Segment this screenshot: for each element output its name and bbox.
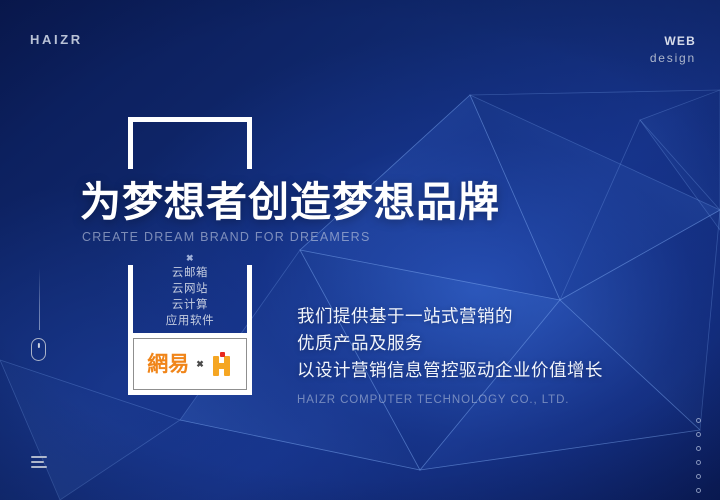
hero-copy: 我们提供基于一站式营销的 优质产品及服务 以设计营销信息管控驱动企业价值增长 H… xyxy=(297,303,603,414)
copy-line-2: 优质产品及服务 xyxy=(297,330,603,357)
page-subtitle: CREATE DREAM BRAND FOR DREAMERS xyxy=(82,230,371,244)
netease-logo: 網易 xyxy=(147,354,189,375)
partner-card[interactable]: 網易 ✖ xyxy=(128,333,252,395)
pagination-dot[interactable] xyxy=(696,418,701,423)
page-title: 为梦想者创造梦想品牌 xyxy=(80,181,500,224)
service-item-cloud-mail[interactable]: 云邮箱 xyxy=(128,265,252,281)
polygon-background xyxy=(0,0,720,500)
hamburger-line-1 xyxy=(31,456,47,458)
service-item-applications[interactable]: 应用软件 xyxy=(128,313,252,329)
h-right-stem xyxy=(224,356,230,376)
corner-label: WEB design xyxy=(650,33,696,68)
copy-line-1: 我们提供基于一站式营销的 xyxy=(297,303,603,330)
polygon-background-svg xyxy=(0,0,720,500)
pagination-dot[interactable] xyxy=(696,460,701,465)
hamburger-menu-icon[interactable] xyxy=(31,456,47,468)
pagination-dot[interactable] xyxy=(696,432,701,437)
corner-label-design: design xyxy=(650,50,696,67)
pagination-dot[interactable] xyxy=(696,446,701,451)
scroll-mouse-icon[interactable] xyxy=(31,338,46,361)
pagination-dot[interactable] xyxy=(696,474,701,479)
bracket-frame-top xyxy=(128,117,252,169)
mouse-wheel-dot xyxy=(37,343,39,348)
company-name: HAIZR COMPUTER TECHNOLOGY CO., LTD. xyxy=(297,387,603,414)
pagination-dot[interactable] xyxy=(696,488,701,493)
cross-separator-icon: ✖ xyxy=(196,359,204,370)
site-logo[interactable]: HAIZR xyxy=(30,32,83,47)
service-item-cloud-site[interactable]: 云网站 xyxy=(128,281,252,297)
partner-card-inner: 網易 ✖ xyxy=(133,338,247,390)
pagination-dots[interactable] xyxy=(696,418,701,493)
scroll-rail-line xyxy=(39,268,40,330)
sparkle-icon: ✖ xyxy=(186,253,194,264)
service-item-cloud-computing[interactable]: 云计算 xyxy=(128,297,252,313)
hero-stage: HAIZR WEB design 为梦想者创造梦想品牌 CREATE DREAM… xyxy=(0,0,720,500)
h-red-dot xyxy=(220,352,225,357)
corner-label-web: WEB xyxy=(650,33,696,50)
copy-line-3: 以设计营销信息管控驱动企业价值增长 xyxy=(297,357,603,384)
service-list: 云邮箱 云网站 云计算 应用软件 xyxy=(128,265,252,329)
hamburger-line-3 xyxy=(31,466,47,468)
haizr-h-mark-icon xyxy=(211,352,233,376)
hamburger-line-2 xyxy=(31,461,44,463)
